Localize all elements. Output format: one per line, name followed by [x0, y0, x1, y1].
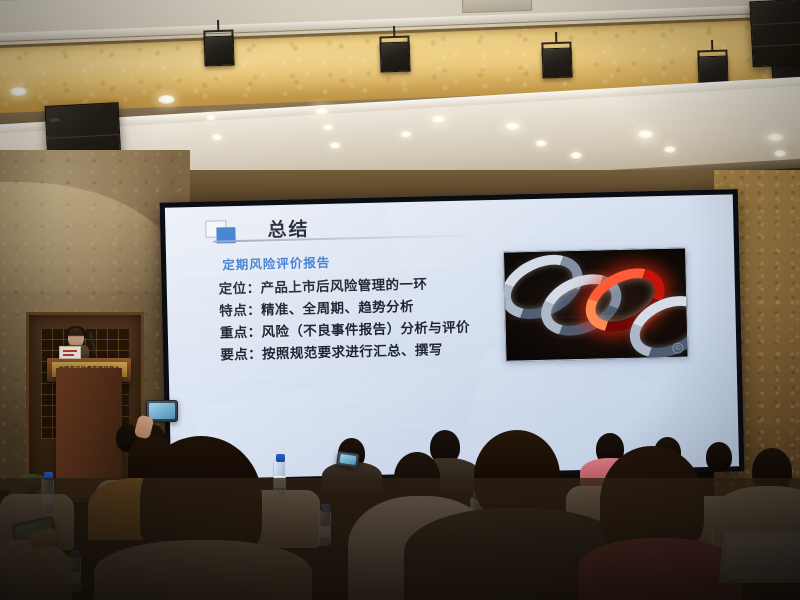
screen-scanline — [169, 380, 737, 395]
podium-name-card — [59, 346, 81, 359]
ceiling-downlight — [329, 142, 341, 149]
ceiling-downlight — [504, 122, 521, 131]
ceiling-downlight — [767, 133, 784, 142]
slide-image-chain: © — [503, 247, 689, 361]
ceiling-downlight — [774, 150, 786, 157]
ceiling-downlight — [211, 134, 223, 141]
ceiling-downlight — [637, 130, 654, 139]
slide-subtitle: 定期风险评价报告 — [222, 252, 330, 274]
ceiling-downlight — [158, 95, 175, 104]
attendee-phone[interactable] — [336, 451, 360, 469]
ceiling-downlight — [570, 152, 582, 159]
ceiling-downlight — [430, 115, 447, 124]
foreground-shadow — [0, 478, 800, 600]
slide-title: 总结 — [267, 220, 309, 240]
ceiling-downlight — [10, 87, 27, 96]
attendee-head — [706, 442, 732, 472]
ceiling-downlight — [400, 131, 412, 138]
ceiling-downlight — [664, 146, 676, 153]
ceiling-downlight — [535, 140, 547, 147]
ceiling-downlight — [313, 107, 330, 116]
conference-hall-scene: 总结 定期风险评价报告 定位：产品上市后风险管理的一环 特点：精准、全周期、趋势… — [0, 0, 800, 600]
ceiling-downlight — [322, 124, 334, 131]
ceiling-downlight — [205, 114, 217, 121]
ceiling-speaker — [749, 0, 800, 67]
